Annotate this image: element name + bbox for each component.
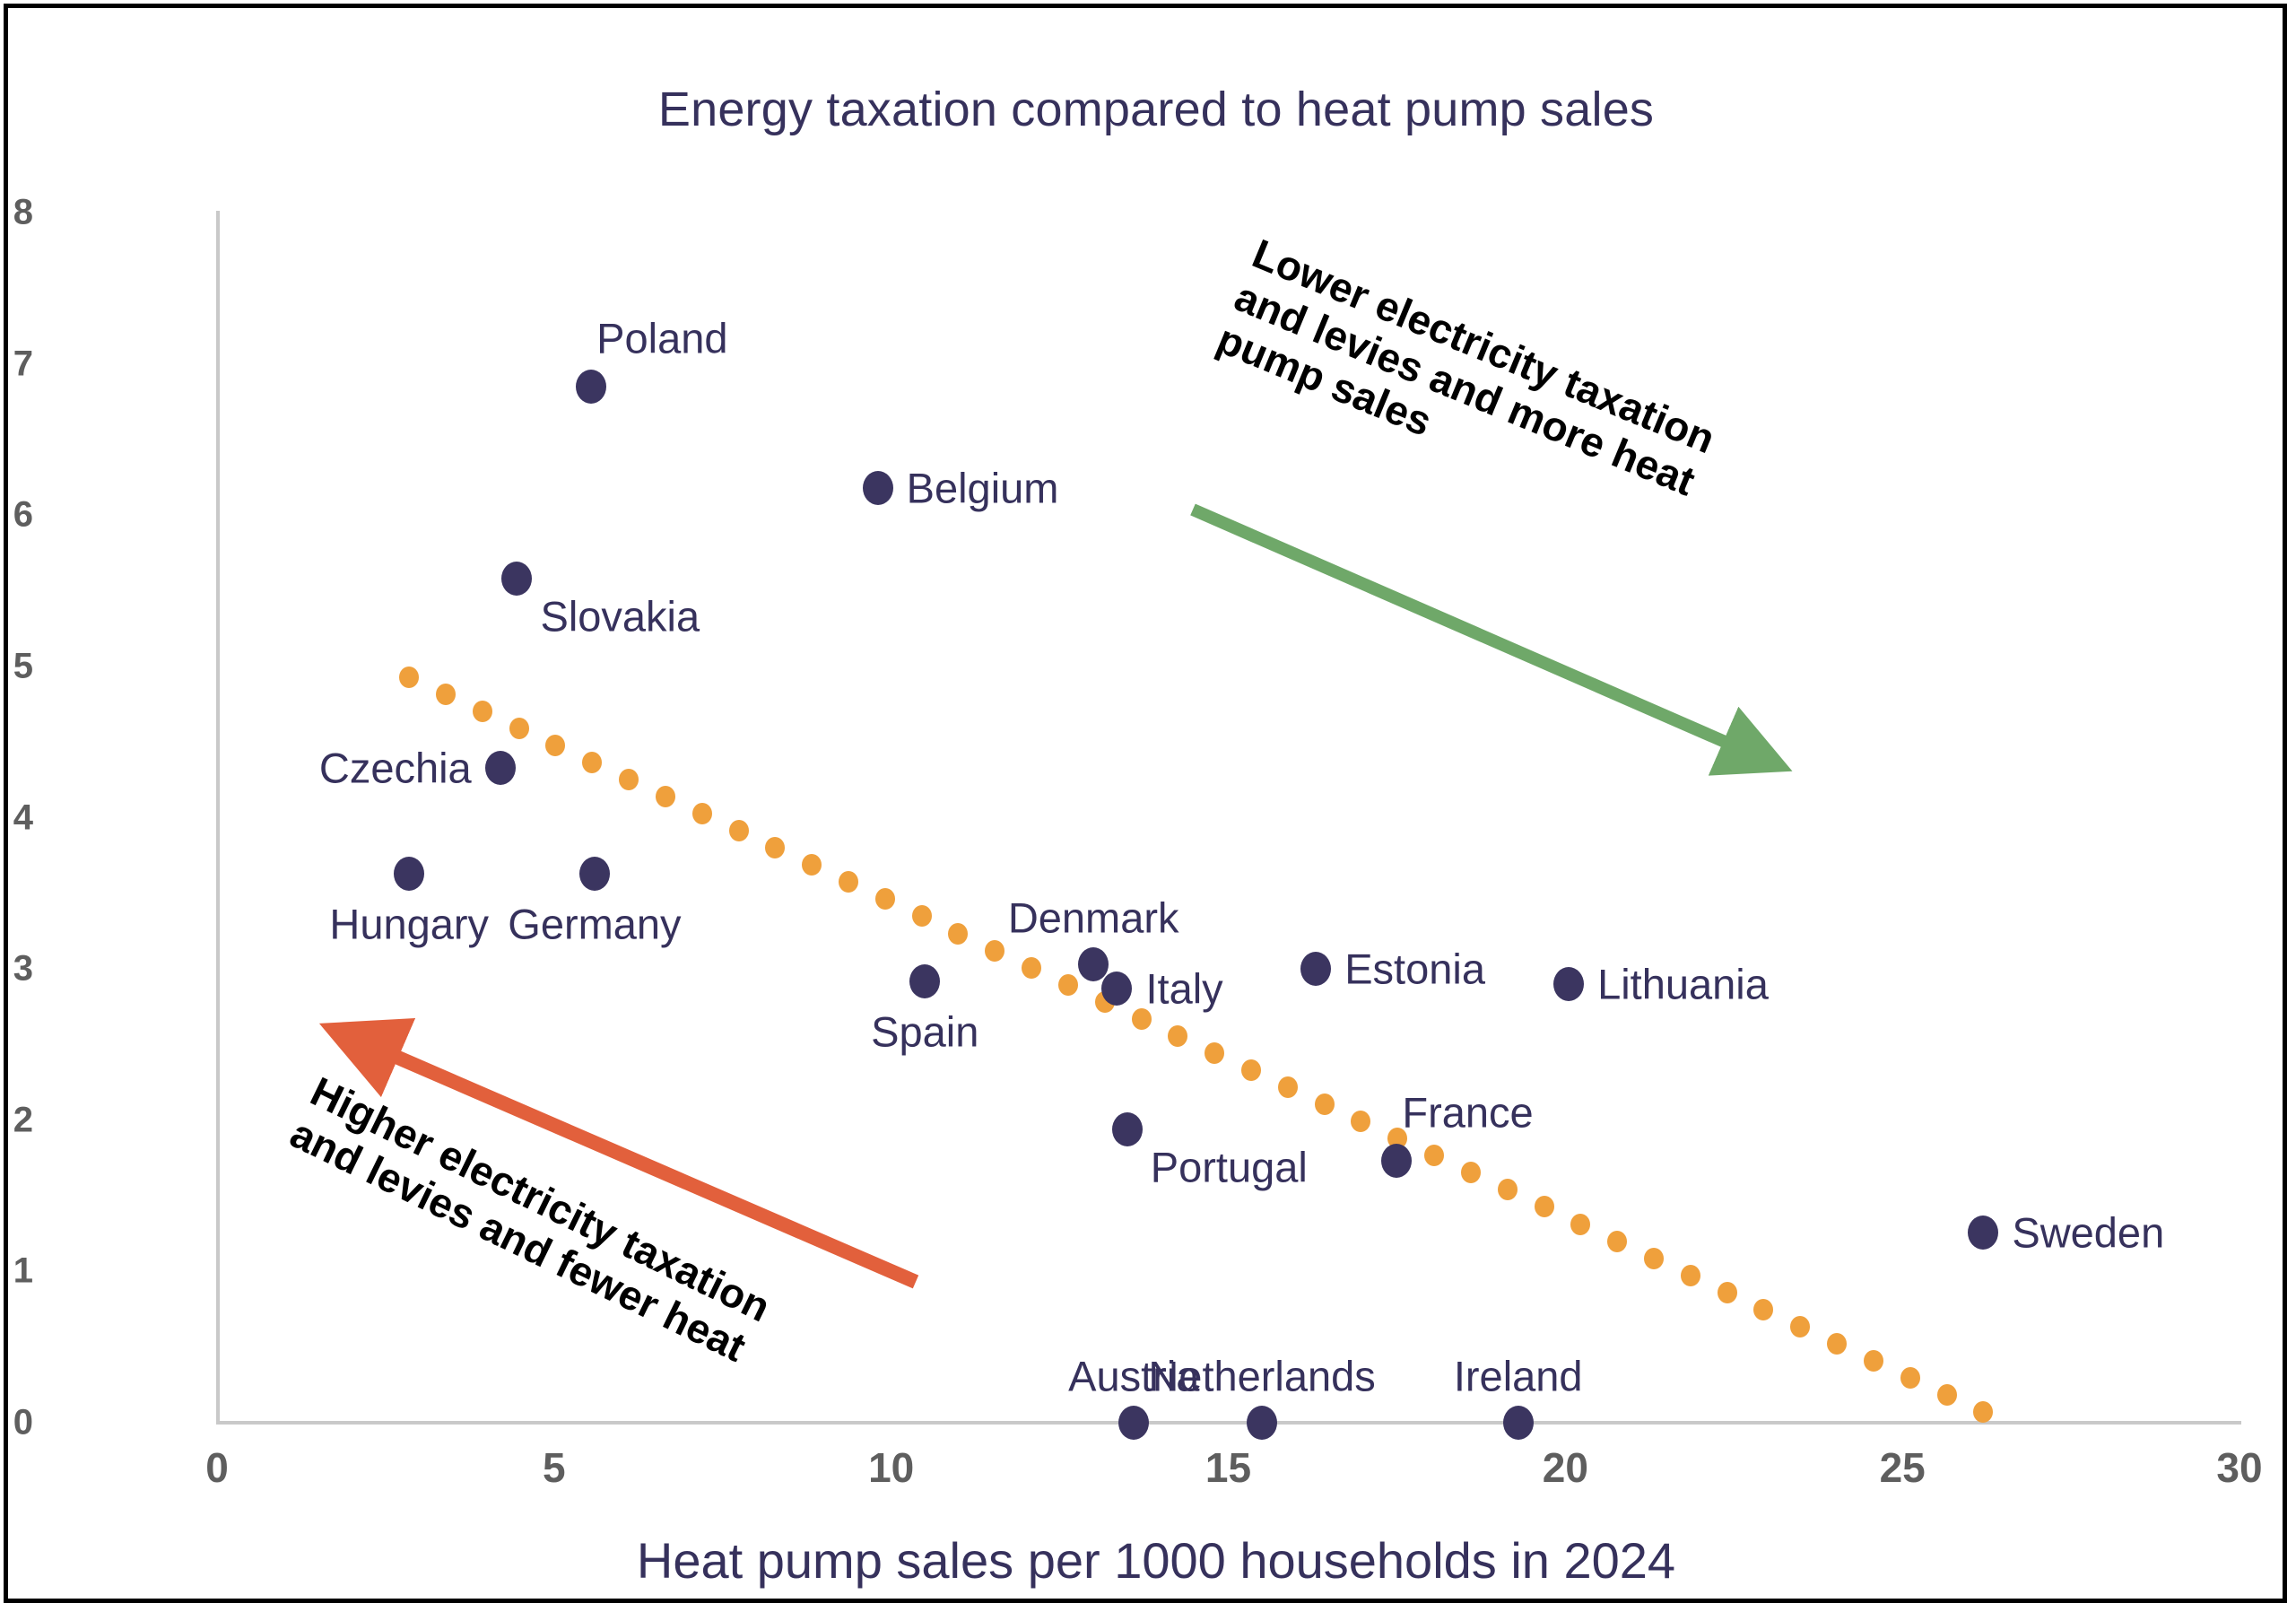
trendline-dot bbox=[1790, 1316, 1810, 1338]
y-axis-tick-label: 2 bbox=[0, 1100, 33, 1140]
trendline-dot bbox=[839, 871, 858, 893]
y-axis-tick-label: 5 bbox=[0, 646, 33, 686]
data-point-belgium bbox=[863, 471, 893, 505]
point-label-czechia: Czechia bbox=[319, 743, 472, 792]
data-point-czechia bbox=[485, 751, 516, 785]
trendline-dot bbox=[1681, 1265, 1700, 1286]
trendline-dot bbox=[875, 888, 895, 910]
data-point-lithuania bbox=[1553, 967, 1584, 1001]
point-label-italy: Italy bbox=[1145, 964, 1222, 1014]
trendline-dot bbox=[619, 769, 639, 790]
trendline-dot bbox=[948, 923, 968, 945]
trendline-dot bbox=[1168, 1025, 1187, 1047]
trendline-dot bbox=[1937, 1384, 1957, 1406]
trendline-dot bbox=[1535, 1196, 1554, 1217]
trendline-dot bbox=[1718, 1282, 1737, 1303]
data-point-denmark bbox=[1078, 947, 1109, 981]
trendline-dot bbox=[985, 940, 1004, 962]
trendline-dot bbox=[1424, 1145, 1444, 1166]
trendline-dot bbox=[436, 684, 456, 705]
trendline-dot bbox=[399, 667, 419, 688]
trendline-dot bbox=[582, 752, 602, 773]
point-label-sweden: Sweden bbox=[2012, 1207, 2164, 1257]
data-point-sweden bbox=[1968, 1216, 1998, 1250]
y-axis-line bbox=[216, 211, 220, 1425]
point-label-portugal: Portugal bbox=[1151, 1142, 1308, 1191]
annotation-lower-taxation: Lower electricity taxationand levies and… bbox=[1211, 231, 1721, 548]
data-point-austria bbox=[1118, 1406, 1149, 1440]
x-axis-tick-label: 25 bbox=[1831, 1443, 1974, 1492]
data-point-france bbox=[1381, 1144, 1412, 1178]
point-label-lithuania: Lithuania bbox=[1597, 959, 1769, 1008]
trendline-dot bbox=[1205, 1042, 1224, 1064]
trendline-dot bbox=[473, 701, 492, 722]
green-arrow bbox=[1193, 510, 1758, 756]
data-point-spain bbox=[909, 964, 940, 998]
x-axis-tick-label: 10 bbox=[820, 1443, 963, 1492]
x-axis-tick-label: 0 bbox=[145, 1443, 289, 1492]
point-label-denmark: Denmark bbox=[1008, 893, 1179, 943]
data-point-slovakia bbox=[501, 562, 532, 596]
trendline-dot bbox=[1315, 1094, 1335, 1115]
trendline-dot bbox=[1864, 1350, 1883, 1372]
x-axis-title: Heat pump sales per 1000 households in 2… bbox=[8, 1531, 2296, 1590]
y-axis-tick-label: 7 bbox=[0, 344, 33, 384]
data-point-netherlands bbox=[1247, 1406, 1277, 1440]
x-axis-tick-label: 20 bbox=[1493, 1443, 1637, 1492]
x-axis-tick-label: 30 bbox=[2168, 1443, 2296, 1492]
y-axis-tick-label: 3 bbox=[0, 949, 33, 989]
trendline-dot bbox=[1278, 1076, 1298, 1098]
trendline-dot bbox=[656, 786, 675, 807]
trendline-dot bbox=[545, 735, 565, 756]
trendline-dot bbox=[1241, 1059, 1261, 1081]
trendline-dot bbox=[1022, 957, 1041, 979]
trendline-dot bbox=[802, 854, 822, 876]
data-point-italy bbox=[1101, 972, 1132, 1006]
data-point-germany bbox=[579, 857, 610, 891]
trendline-dot bbox=[692, 803, 712, 824]
trendline-dot bbox=[509, 718, 529, 739]
trendline-dot bbox=[765, 837, 785, 858]
trendline-dot bbox=[1607, 1231, 1627, 1252]
trendline-dot bbox=[912, 905, 932, 927]
y-axis-tick-label: 4 bbox=[0, 797, 33, 838]
x-axis-tick-label: 5 bbox=[483, 1443, 626, 1492]
x-axis-line bbox=[216, 1421, 2241, 1425]
chart-page: Energy taxation compared to heat pump sa… bbox=[0, 0, 2296, 1612]
point-label-netherlands: Netherlands bbox=[1148, 1352, 1375, 1401]
x-axis-tick-label: 15 bbox=[1157, 1443, 1300, 1492]
trendline-dot bbox=[1900, 1367, 1920, 1389]
chart-title: Energy taxation compared to heat pump sa… bbox=[8, 82, 2296, 137]
chart-frame: Energy taxation compared to heat pump sa… bbox=[4, 4, 2287, 1603]
point-label-spain: Spain bbox=[871, 1006, 978, 1056]
trendline-dot bbox=[1644, 1248, 1664, 1269]
point-label-poland: Poland bbox=[596, 313, 727, 362]
data-point-estonia bbox=[1300, 952, 1331, 986]
trendline-dot bbox=[1973, 1401, 1993, 1423]
annotation-line: and levies and fewer heat bbox=[283, 1110, 757, 1372]
point-label-belgium: Belgium bbox=[907, 463, 1059, 512]
annotation-line: Higher electricity taxation bbox=[303, 1068, 777, 1331]
data-point-hungary bbox=[394, 857, 424, 891]
data-point-portugal bbox=[1112, 1112, 1143, 1146]
point-label-ireland: Ireland bbox=[1454, 1352, 1583, 1401]
annotation-higher-taxation: Higher electricity taxationand levies an… bbox=[283, 1068, 778, 1372]
point-label-slovakia: Slovakia bbox=[540, 592, 700, 641]
trendline-dot bbox=[1461, 1162, 1481, 1183]
trendline-dot bbox=[1351, 1111, 1370, 1132]
data-point-ireland bbox=[1503, 1406, 1534, 1440]
trendline-dot bbox=[729, 820, 749, 841]
data-point-poland bbox=[576, 370, 606, 404]
y-axis-tick-label: 0 bbox=[0, 1403, 33, 1443]
point-label-germany: Germany bbox=[508, 899, 681, 948]
point-label-france: France bbox=[1402, 1088, 1533, 1137]
trendline-dot bbox=[1827, 1333, 1847, 1355]
y-axis-tick-label: 1 bbox=[0, 1251, 33, 1292]
point-label-estonia: Estonia bbox=[1344, 945, 1485, 994]
trendline-dot bbox=[1570, 1214, 1590, 1235]
y-axis-tick-label: 8 bbox=[0, 193, 33, 233]
trendline-dot bbox=[1058, 974, 1078, 996]
trendline-dot bbox=[1753, 1299, 1773, 1320]
point-label-hungary: Hungary bbox=[329, 899, 489, 948]
trendline-dot bbox=[1498, 1179, 1518, 1200]
y-axis-tick-label: 6 bbox=[0, 495, 33, 536]
